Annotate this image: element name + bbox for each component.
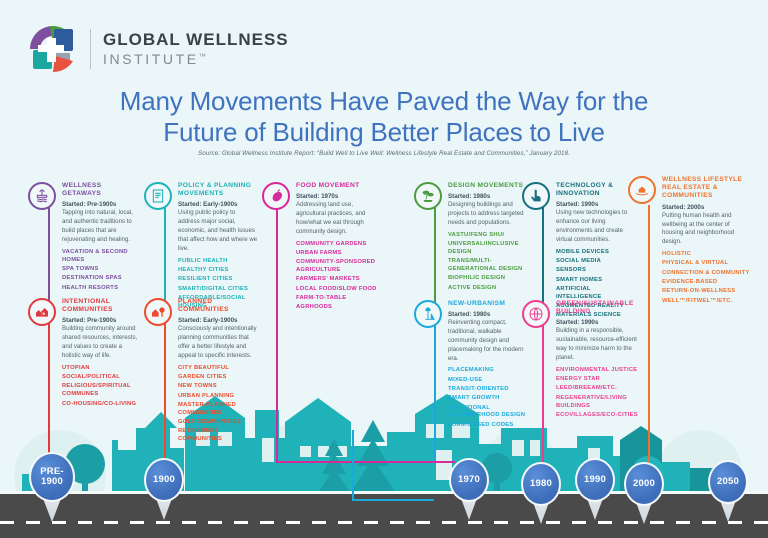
hand-touch-icon	[522, 182, 550, 210]
list-item: CONNECTION & COMMUNITY	[662, 270, 752, 278]
card-title: DESIGN MOVEMENTS	[448, 182, 526, 190]
list-item: MIXED-USE	[448, 377, 528, 385]
movement-card-wellness-lifestyle-real-estate[interactable]: WELLNESS LIFESTYLE REAL ESTATE & COMMUNI…	[628, 176, 752, 307]
card-started: Started: 2000s	[662, 204, 752, 211]
list-item: CO-HOUSING/CO-LIVING	[62, 401, 140, 409]
card-started: Started: Early-1900s	[178, 201, 258, 208]
list-item: WELL™/FITWEL™/ETC.	[662, 298, 752, 306]
card-started: Started: Pre-1900s	[62, 201, 140, 208]
title-line-2: Future of Building Better Places to Live	[0, 117, 768, 148]
card-started: Started: Early-1900s	[178, 317, 262, 324]
community-houses-icon	[28, 298, 56, 326]
movement-card-policy-planning-movements[interactable]: POLICY & PLANNING MOVEMENTS Started: Ear…	[144, 182, 258, 312]
brand-name-line1: GLOBAL WELLNESS	[103, 31, 289, 49]
card-item-list: VASTU/FENG SHUI UNIVERSAL/INCLUSIVE DESI…	[448, 232, 526, 293]
brand-name-line2: INSTITUTE™	[103, 52, 289, 67]
list-item: SOCIAL/POLITICAL	[62, 374, 140, 382]
card-description: Designing buildings and projects to addr…	[448, 201, 526, 227]
card-started: Started: 1980s	[448, 311, 528, 318]
card-title: FOOD MOVEMENT	[296, 182, 378, 190]
bonsai-plant-icon	[414, 182, 442, 210]
list-item: CITY BEAUTIFUL	[178, 365, 262, 373]
movement-card-green-sustainable-building[interactable]: GREEN/SUSTAINABLE BUILDING Started: 1990…	[522, 300, 640, 421]
list-item: VACATION & SECOND HOMES	[62, 249, 140, 265]
list-item: FARM-TO-TABLE	[296, 295, 378, 303]
list-item: SMART/DIGITAL CITIES	[178, 286, 258, 294]
card-item-list: ENVIRONMENTAL JUSTICE ENERGY STAR LEED/B…	[556, 367, 640, 420]
list-item: UNIVERSAL/INCLUSIVE DESIGN	[448, 241, 526, 257]
card-started: Started: 1970s	[296, 193, 378, 200]
movement-card-new-urbanism[interactable]: NEW-URBANISM Started: 1980s Reinventing …	[414, 300, 528, 431]
card-item-list: HOLISTIC PHYSICAL & VIRTUAL CONNECTION &…	[662, 251, 752, 305]
pin-bulb: 1970	[449, 458, 489, 502]
list-item: VASTU/FENG SHUI	[448, 232, 526, 240]
list-item: GOLF COMMUNITIES	[178, 419, 262, 427]
list-item: LOCAL FOOD/SLOW FOOD	[296, 286, 378, 294]
list-item: RELIGIOUS/SPIRITUAL COMMUNES	[62, 383, 140, 399]
card-description: Building community around shared resourc…	[62, 325, 140, 360]
list-item: ENVIRONMENTAL JUSTICE	[556, 367, 640, 375]
list-item: AGRHOODS	[296, 304, 378, 312]
list-item: FORM-BASED CODES	[448, 422, 528, 430]
timeline-pin-pre-1900[interactable]: PRE-1900	[26, 452, 78, 522]
card-item-list: UTOPIAN SOCIAL/POLITICAL RELIGIOUS/SPIRI…	[62, 365, 140, 409]
list-item: COMMUNITY GARDENS	[296, 241, 378, 249]
globe-leaf-icon	[522, 300, 550, 328]
card-item-list: PLACEMAKING MIXED-USE TRANSIT-ORIENTED S…	[448, 367, 528, 429]
card-title: NEW-URBANISM	[448, 300, 528, 308]
list-item: BIOPHILIC DESIGN	[448, 275, 526, 283]
movement-card-planned-communities[interactable]: PLANNED COMMUNITIES Started: Early-1900s…	[144, 298, 262, 446]
movement-card-food-movement[interactable]: FOOD MOVEMENT Started: 1970s Addressing …	[262, 182, 378, 314]
list-item: SENSORS	[556, 267, 634, 275]
document-policy-icon	[144, 182, 172, 210]
pin-bulb: 1990	[575, 458, 615, 502]
list-item: RETURN-ON-WELLNESS	[662, 288, 752, 296]
list-item: RETIREMENT COMMUNITIES	[178, 428, 262, 444]
card-description: Consciously and intentionally planning c…	[178, 325, 262, 360]
card-started: Started: 1990s	[556, 201, 634, 208]
pin-bulb: PRE-1900	[29, 452, 75, 502]
card-description: Addressing land use, agricultural practi…	[296, 201, 378, 236]
list-item: URBAN FARMS	[296, 250, 378, 258]
list-item: SMART HOMES	[556, 277, 634, 285]
list-item: TRANS/MULTI-GENERATIONAL DESIGN	[448, 258, 526, 274]
list-item: SMART GROWTH	[448, 395, 528, 403]
card-title: PLANNED COMMUNITIES	[178, 298, 262, 314]
card-title: INTENTIONAL COMMUNITIES	[62, 298, 140, 314]
house-in-hand-icon	[628, 176, 656, 204]
infographic-canvas: GLOBAL WELLNESS INSTITUTE™ Many Movement…	[0, 0, 768, 538]
street-lamp-icon	[414, 300, 442, 328]
pin-label: 1980	[530, 479, 552, 489]
trademark-symbol: ™	[199, 53, 209, 60]
pin-bulb: 1900	[144, 458, 184, 502]
list-item: URBAN PLANNING	[178, 393, 262, 401]
card-item-list: CITY BEAUTIFUL GARDEN CITIES NEW TOWNS U…	[178, 365, 262, 444]
pin-label: PRE-1900	[40, 467, 64, 487]
brand-logo: GLOBAL WELLNESS INSTITUTE™	[28, 24, 289, 74]
list-item: GARDEN CITIES	[178, 374, 262, 382]
pin-label: 1970	[458, 475, 480, 485]
list-item: SPA TOWNS	[62, 266, 140, 274]
card-started: Started: 1980s	[448, 193, 526, 200]
card-title: TECHNOLOGY & INNOVATION	[556, 182, 634, 198]
movement-card-intentional-communities[interactable]: INTENTIONAL COMMUNITIES Started: Pre-190…	[28, 298, 140, 410]
logo-divider	[90, 29, 91, 69]
list-item: TRADITIONAL NEIGHBORHOOD DESIGN	[448, 405, 528, 421]
list-item: HOLISTIC	[662, 251, 752, 259]
timeline-pin-1980[interactable]: 1980	[519, 462, 563, 524]
list-item: SOCIAL MEDIA	[556, 258, 634, 266]
list-item: ENERGY STAR	[556, 376, 640, 384]
card-started: Started: Pre-1900s	[62, 317, 140, 324]
list-item: ECOVILLAGES/ECO-CITIES	[556, 412, 640, 420]
list-item: EVIDENCE-BASED	[662, 279, 752, 287]
card-title: WELLNESS LIFESTYLE REAL ESTATE & COMMUNI…	[662, 176, 752, 201]
list-item: HEALTH RESORTS	[62, 285, 140, 293]
card-title: WELLNESS GETAWAYS	[62, 182, 140, 198]
source-citation: Source: Global Wellness Institute Report…	[0, 150, 768, 157]
list-item: TRANSIT-ORIENTED	[448, 386, 528, 394]
timeline-pin-2050[interactable]: 2050	[706, 460, 750, 522]
pin-bulb: 2000	[624, 462, 664, 506]
pin-bulb: 2050	[708, 460, 748, 504]
card-item-list: VACATION & SECOND HOMES SPA TOWNS DESTIN…	[62, 249, 140, 293]
list-item: MASTER-PLANNED COMMUNITIES	[178, 402, 262, 418]
title-line-1: Many Movements Have Paved the Way for th…	[0, 86, 768, 117]
list-item: HEALTHY CITIES	[178, 267, 258, 275]
timeline-pin-2000[interactable]: 2000	[622, 462, 666, 524]
eggplant-vegetable-icon	[262, 182, 290, 210]
movement-card-wellness-getaways[interactable]: WELLNESS GETAWAYS Started: Pre-1900s Tap…	[28, 182, 140, 294]
list-item: UTOPIAN	[62, 365, 140, 373]
list-item: RESILIENT CITIES	[178, 276, 258, 284]
card-description: Tapping into natural, local, and authent…	[62, 209, 140, 244]
list-item: MOBILE DEVICES	[556, 249, 634, 257]
card-item-list: COMMUNITY GARDENS URBAN FARMS COMMUNITY-…	[296, 241, 378, 313]
list-item: DESTINATION SPAS	[62, 275, 140, 283]
pin-label: 2050	[717, 477, 739, 487]
pin-bulb: 1980	[521, 462, 561, 506]
list-item: PHYSICAL & VIRTUAL	[662, 260, 752, 268]
list-item: ACTIVE DESIGN	[448, 285, 526, 293]
global-wellness-institute-logo-icon	[28, 24, 78, 74]
movement-card-design-movements[interactable]: DESIGN MOVEMENTS Started: 1980s Designin…	[414, 182, 526, 294]
spa-fountain-icon	[28, 182, 56, 210]
list-item: LEED/BREEAM/ETC.	[556, 385, 640, 393]
list-item: REGENERATIVE/LIVING BUILDINGS	[556, 395, 640, 411]
card-description: Using public policy to address major soc…	[178, 209, 258, 253]
pin-label: 1900	[153, 475, 175, 485]
list-item: PLACEMAKING	[448, 367, 528, 375]
card-description: Putting human health and wellbeing at th…	[662, 212, 752, 247]
card-description: Using new technologies to enhance our li…	[556, 209, 634, 244]
timeline-pin-1970[interactable]: 1970	[447, 458, 491, 520]
card-description: Reinventing compact, traditional, walkab…	[448, 319, 528, 363]
timeline-pin-1990[interactable]: 1990	[573, 458, 617, 520]
list-item: COMMUNITY-SPONSORED AGRICULTURE	[296, 259, 378, 275]
pin-label: 2000	[633, 479, 655, 489]
page-title: Many Movements Have Paved the Way for th…	[0, 86, 768, 147]
card-started: Started: 1990s	[556, 319, 640, 326]
list-item: FARMERS’ MARKETS	[296, 276, 378, 284]
list-item: NEW TOWNS	[178, 383, 262, 391]
card-description: Building in a responsible, sustainable, …	[556, 327, 640, 362]
card-title: POLICY & PLANNING MOVEMENTS	[178, 182, 258, 198]
house-tree-icon	[144, 298, 172, 326]
pin-label: 1990	[584, 475, 606, 485]
timeline-pin-1900[interactable]: 1900	[142, 458, 186, 520]
list-item: PUBLIC HEALTH	[178, 258, 258, 266]
